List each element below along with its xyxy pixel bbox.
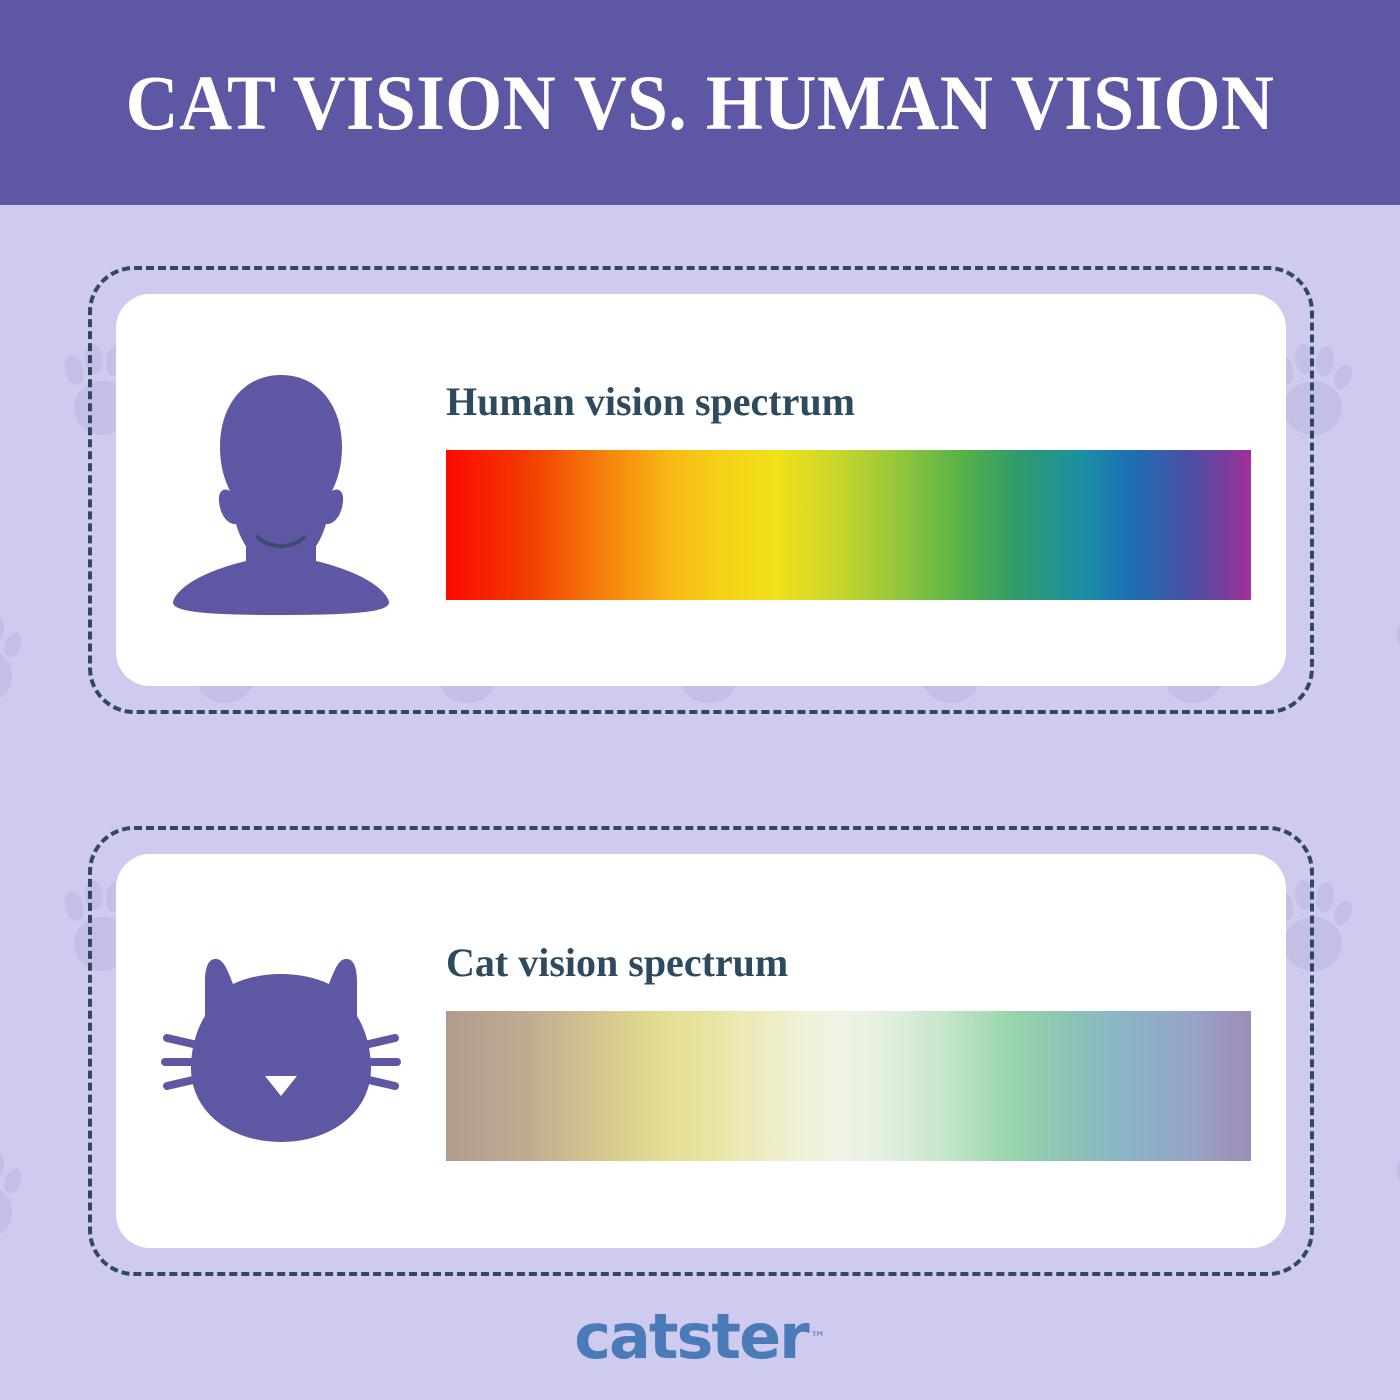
panel-cat-vision: Cat vision spectrum (88, 826, 1314, 1276)
human-content-slot: Human vision spectrum (446, 380, 1286, 600)
cat-spectrum-label: Cat vision spectrum (446, 941, 1258, 985)
cat-content-slot: Cat vision spectrum (446, 941, 1286, 1161)
paw-print-icon (0, 1147, 26, 1243)
human-vision-spectrum-bar (446, 450, 1251, 600)
catster-logo[interactable]: catster ™ (0, 1306, 1400, 1368)
paw-print-icon (1392, 611, 1400, 707)
panel-human-vision: Human vision spectrum (88, 266, 1314, 714)
catster-wordmark: catster (574, 1306, 807, 1368)
infographic-root: CAT VISION VS. HUMAN VISION Human vision… (0, 0, 1400, 1400)
human-icon-slot (116, 365, 446, 615)
page-title: CAT VISION VS. HUMAN VISION (126, 64, 1275, 142)
cat-face-icon (161, 956, 401, 1146)
trademark-symbol: ™ (810, 1330, 826, 1346)
card-cat-vision: Cat vision spectrum (116, 854, 1286, 1248)
card-human-vision: Human vision spectrum (116, 294, 1286, 686)
paw-print-icon (1392, 1147, 1400, 1243)
header-band: CAT VISION VS. HUMAN VISION (0, 0, 1400, 205)
person-bust-icon (166, 365, 396, 615)
paw-print-icon (0, 611, 26, 707)
cat-icon-slot (116, 956, 446, 1146)
human-spectrum-label: Human vision spectrum (446, 380, 1258, 424)
cat-vision-spectrum-bar (446, 1011, 1251, 1161)
